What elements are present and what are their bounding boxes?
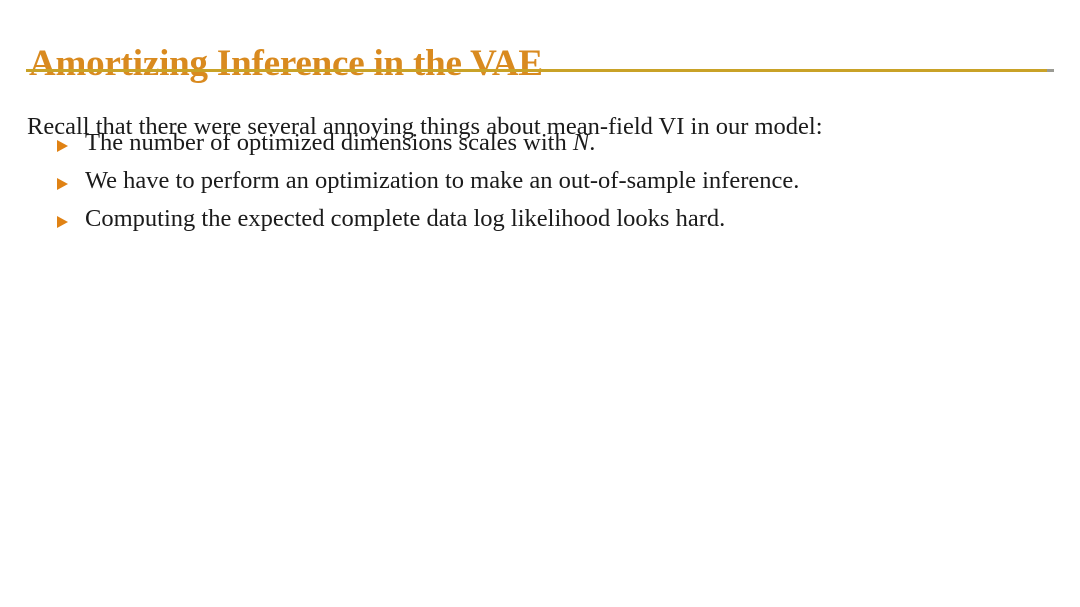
- list-item: Computing the expected complete data log…: [0, 206, 1080, 244]
- list-item-text-before-math: The number of optimized dimensions scale…: [85, 129, 573, 156]
- list-item: The number of optimized dimensions scale…: [0, 130, 1080, 168]
- math-variable-n: N: [573, 129, 589, 156]
- triangle-right-icon: [57, 216, 68, 228]
- list-item-label: Computing the expected complete data log…: [85, 203, 725, 235]
- list-item-label: We have to perform an optimization to ma…: [85, 165, 799, 197]
- bullet-list: The number of optimized dimensions scale…: [0, 130, 1080, 244]
- list-item: We have to perform an optimization to ma…: [0, 168, 1080, 206]
- title-divider: [26, 69, 1054, 72]
- page-title: Amortizing Inference in the VAE: [29, 42, 543, 86]
- slide-canvas: Amortizing Inference in the VAE Recall t…: [0, 0, 1080, 607]
- triangle-right-icon: [57, 178, 68, 190]
- list-item-label: The number of optimized dimensions scale…: [85, 127, 595, 159]
- triangle-right-icon: [57, 140, 68, 152]
- list-item-text-after-math: .: [589, 129, 595, 156]
